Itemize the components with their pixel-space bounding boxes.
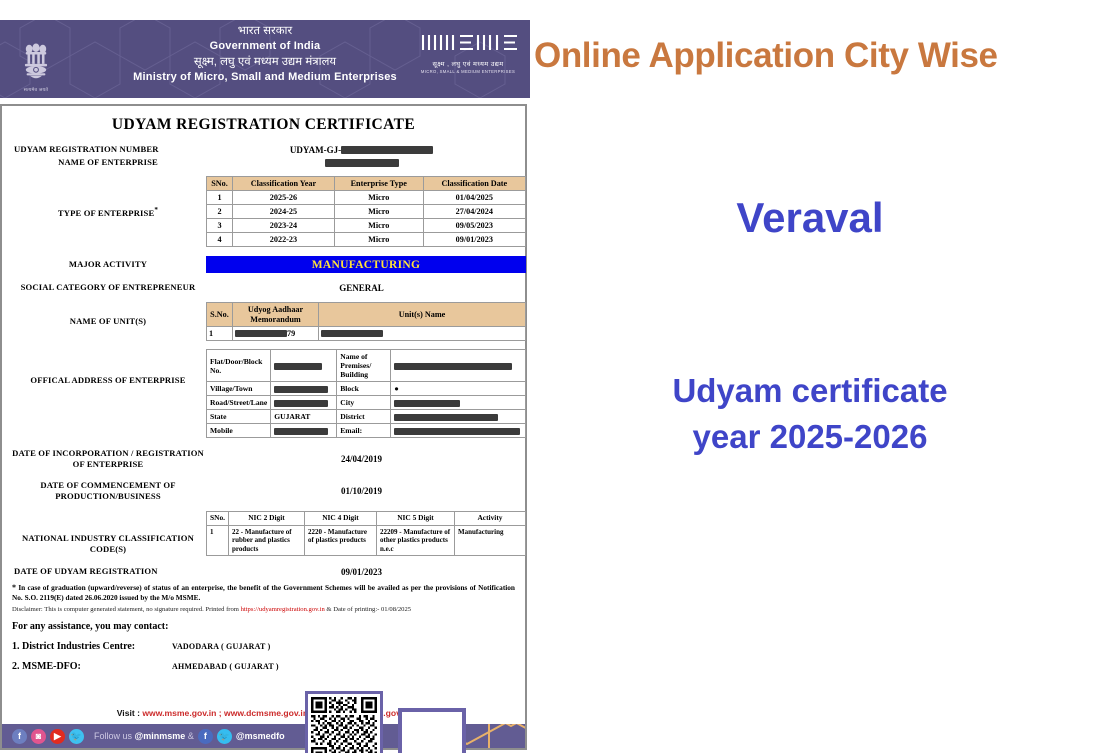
msme-logo: सूक्ष्म , लघु एवं मध्यम उद्यम MICRO, SMA… bbox=[420, 30, 516, 74]
subtitle-line-1: Udyam certificate bbox=[530, 368, 1090, 414]
cell-addr-key: Flat/Door/Block No. bbox=[207, 350, 271, 382]
table-header-row: SNo. Classification Year Enterprise Type… bbox=[207, 177, 526, 191]
table-row: Village/Town Block ● bbox=[207, 382, 526, 396]
label-name-of-enterprise: NAME OF ENTERPRISE bbox=[10, 157, 206, 168]
table-row: 2 2024-25 Micro 27/04/2024 bbox=[207, 205, 526, 219]
facebook-icon[interactable]: f bbox=[12, 729, 27, 744]
city-name: Veraval bbox=[530, 194, 1090, 242]
cell-nic-2digit: 22 - Manufacture of rubber and plastics … bbox=[229, 525, 305, 556]
cell-addr-key: Village/Town bbox=[207, 382, 271, 396]
cell-year: 2023-24 bbox=[233, 219, 335, 233]
graduation-footnote: * In case of graduation (upward/reverse)… bbox=[10, 583, 517, 603]
redacted-district bbox=[394, 414, 498, 421]
cell-addr-key: City bbox=[337, 396, 391, 410]
cell-nic-activity: Manufacturing bbox=[455, 525, 526, 556]
facebook-icon[interactable]: f bbox=[198, 729, 213, 744]
nic-table: SNo. NIC 2 Digit NIC 4 Digit NIC 5 Digit… bbox=[206, 511, 526, 556]
twitter-icon[interactable]: 🐦 bbox=[69, 729, 84, 744]
handle-minmsme[interactable]: @minmsme bbox=[135, 731, 186, 741]
th-nic-4digit: NIC 4 Digit bbox=[305, 512, 377, 526]
cell-type: Micro bbox=[334, 191, 423, 205]
cell-type: Micro bbox=[334, 233, 423, 247]
msme-logo-english-label: MICRO, SMALL & MEDIUM ENTERPRISES bbox=[420, 69, 516, 74]
youtube-icon[interactable]: ▶ bbox=[50, 729, 65, 744]
screenshot-root: सत्यमेव जयते भारत सरकार Government of In… bbox=[0, 0, 1116, 753]
cell-year: 2025-26 bbox=[233, 191, 335, 205]
label-nic-codes: NATIONAL INDUSTRY CLASSIFICATION CODE(S) bbox=[10, 511, 206, 555]
row-official-address: OFFICAL ADDRESS OF ENTERPRISE Flat/Door/… bbox=[10, 349, 517, 438]
label-social-category: SOCIAL CATEGORY OF ENTREPRENEUR bbox=[10, 282, 206, 293]
cell-addr-value bbox=[391, 410, 526, 424]
th-nic-sno: SNo. bbox=[207, 512, 229, 526]
ampersand-label: & bbox=[185, 731, 194, 741]
major-activity-banner: MANUFACTURING bbox=[206, 256, 526, 273]
label-type-of-enterprise-text: TYPE OF ENTERPRISE bbox=[58, 207, 154, 217]
emblem-motto: सत्यमेव जयते bbox=[24, 87, 49, 93]
cell-sno: 3 bbox=[207, 219, 233, 233]
row-nic-codes: NATIONAL INDUSTRY CLASSIFICATION CODE(S)… bbox=[10, 511, 517, 556]
value-date-of-udyam-registration: 09/01/2023 bbox=[206, 567, 517, 577]
cell-nic-4digit: 2220 - Manufacture of plastics products bbox=[305, 525, 377, 556]
value-date-of-commencement: 01/10/2019 bbox=[206, 486, 517, 496]
contact-value: AHMEDABAD ( GUJARAT ) bbox=[172, 662, 279, 671]
blank-placeholder-box bbox=[398, 708, 466, 753]
th-sno: SNo. bbox=[207, 177, 233, 191]
contact-msme-dfo: 2. MSME-DFO: AHMEDABAD ( GUJARAT ) bbox=[10, 661, 517, 672]
cell-addr-key: District bbox=[337, 410, 391, 424]
cell-addr-value: ● bbox=[391, 382, 526, 396]
row-name-of-enterprise: NAME OF ENTERPRISE bbox=[10, 157, 517, 168]
uam-suffix: 79 bbox=[287, 329, 295, 338]
qr-code-image bbox=[311, 697, 377, 753]
table-row: 4 2022-23 Micro 09/01/2023 bbox=[207, 233, 526, 247]
table-row: 1 22 - Manufacture of rubber and plastic… bbox=[207, 525, 526, 556]
subtitle-line-2: year 2025-2026 bbox=[530, 414, 1090, 460]
follow-label: Follow us bbox=[94, 731, 135, 741]
table-row: Road/Street/Lane City bbox=[207, 396, 526, 410]
cell-type: Micro bbox=[334, 219, 423, 233]
contact-district-industries-centre: 1. District Industries Centre: VADODARA … bbox=[10, 641, 517, 652]
units-table: S.No. Udyog Aadhaar Memorandum Unit(s) N… bbox=[206, 302, 526, 341]
table-row: Mobile Email: bbox=[207, 424, 526, 438]
cell-addr-key: Road/Street/Lane bbox=[207, 396, 271, 410]
table-row: Flat/Door/Block No. Name of Premises/ Bu… bbox=[207, 350, 526, 382]
address-table-wrap: Flat/Door/Block No. Name of Premises/ Bu… bbox=[206, 349, 526, 438]
cell-addr-value bbox=[391, 396, 526, 410]
subtitle-block: Udyam certificate year 2025-2026 bbox=[530, 368, 1090, 460]
contact-key: 2. MSME-DFO: bbox=[12, 661, 172, 672]
msme-wordmark-icon bbox=[420, 30, 520, 52]
label-date-of-commencement: DATE OF COMMENCEMENT OF PRODUCTION/BUSIN… bbox=[10, 480, 206, 502]
redacted-registration-number bbox=[341, 146, 433, 154]
cell-addr-value bbox=[271, 382, 337, 396]
cell-year: 2024-25 bbox=[233, 205, 335, 219]
certificate-title: UDYAM REGISTRATION CERTIFICATE bbox=[10, 116, 517, 134]
contact-value: VADODARA ( GUJARAT ) bbox=[172, 642, 270, 651]
redacted-premises-name bbox=[394, 363, 512, 370]
table-row: 3 2023-24 Micro 09/05/2023 bbox=[207, 219, 526, 233]
page-headline: Online Application City Wise bbox=[534, 36, 1114, 76]
contact-key: 1. District Industries Centre: bbox=[12, 641, 172, 652]
th-unit-name: Unit(s) Name bbox=[319, 303, 526, 327]
cell-unit-name bbox=[319, 327, 526, 341]
cell-addr-key: Block bbox=[337, 382, 391, 396]
label-name-of-units: NAME OF UNIT(S) bbox=[10, 316, 206, 327]
th-units-sno: S.No. bbox=[207, 303, 233, 327]
row-date-of-commencement: DATE OF COMMENCEMENT OF PRODUCTION/BUSIN… bbox=[10, 480, 517, 502]
footnote-asterisk: * bbox=[12, 583, 16, 592]
redacted-enterprise-name bbox=[325, 159, 399, 167]
disclaimer-suffix: & Date of printing:- 01/08/2025 bbox=[325, 606, 411, 613]
cell-addr-key: Email: bbox=[337, 424, 391, 438]
row-date-of-udyam-registration: DATE OF UDYAM REGISTRATION 09/01/2023 bbox=[10, 566, 517, 577]
cell-date: 27/04/2024 bbox=[423, 205, 525, 219]
row-date-of-incorporation: DATE OF INCORPORATION / REGISTRATION OF … bbox=[10, 448, 517, 470]
cell-year: 2022-23 bbox=[233, 233, 335, 247]
cell-addr-value bbox=[391, 350, 526, 382]
th-nic-activity: Activity bbox=[455, 512, 526, 526]
cell-addr-value: GUJARAT bbox=[271, 410, 337, 424]
redacted-email bbox=[394, 428, 520, 435]
assistance-heading: For any assistance, you may contact: bbox=[10, 621, 517, 632]
msme-logo-hindi-label: सूक्ष्म , लघु एवं मध्यम उद्यम bbox=[420, 59, 516, 68]
cell-units-sno: 1 bbox=[207, 327, 233, 341]
follow-us-text: Follow us @minmsme & bbox=[94, 731, 194, 741]
major-activity-wrap: MANUFACTURING bbox=[206, 256, 526, 273]
enterprise-type-table-wrap: SNo. Classification Year Enterprise Type… bbox=[206, 176, 526, 247]
registration-number-prefix: UDYAM-GJ- bbox=[290, 145, 341, 155]
value-social-category: GENERAL bbox=[206, 283, 517, 293]
units-table-wrap: S.No. Udyog Aadhaar Memorandum Unit(s) N… bbox=[206, 302, 526, 341]
footnote-text: In case of graduation (upward/reverse) o… bbox=[12, 583, 515, 602]
cell-addr-value bbox=[271, 424, 337, 438]
redacted-flat-no bbox=[274, 363, 322, 370]
cell-type: Micro bbox=[334, 205, 423, 219]
label-date-of-incorporation: DATE OF INCORPORATION / REGISTRATION OF … bbox=[10, 448, 206, 470]
cell-sno: 2 bbox=[207, 205, 233, 219]
th-classification-year: Classification Year bbox=[233, 177, 335, 191]
row-registration-number: UDYAM REGISTRATION NUMBER UDYAM-GJ- bbox=[10, 144, 517, 155]
table-row: 1 79 bbox=[207, 327, 526, 341]
redacted-city bbox=[394, 400, 460, 407]
label-registration-number: UDYAM REGISTRATION NUMBER bbox=[10, 144, 206, 155]
udyam-certificate-panel: सत्यमेव जयते भारत सरकार Government of In… bbox=[0, 20, 530, 753]
label-type-of-enterprise: TYPE OF ENTERPRISE* bbox=[10, 205, 206, 219]
udyam-registration-link[interactable]: https://udyamregistration.gov.in bbox=[241, 606, 325, 613]
th-enterprise-type: Enterprise Type bbox=[334, 177, 423, 191]
instagram-icon[interactable]: ◙ bbox=[31, 729, 46, 744]
row-major-activity: MAJOR ACTIVITY MANUFACTURING bbox=[10, 256, 517, 273]
cell-date: 09/05/2023 bbox=[423, 219, 525, 233]
twitter-icon[interactable]: 🐦 bbox=[217, 729, 232, 744]
disclaimer-prefix: Disclaimer: This is computer generated s… bbox=[12, 606, 241, 613]
government-header: सत्यमेव जयते भारत सरकार Government of In… bbox=[0, 20, 530, 98]
right-text-panel: Online Application City Wise Veraval Udy… bbox=[530, 0, 1116, 753]
cell-addr-value bbox=[271, 396, 337, 410]
cell-addr-value bbox=[271, 350, 337, 382]
row-social-category: SOCIAL CATEGORY OF ENTREPRENEUR GENERAL bbox=[10, 282, 517, 293]
label-date-of-udyam-registration: DATE OF UDYAM REGISTRATION bbox=[10, 566, 206, 577]
certificate-body: UDYAM REGISTRATION CERTIFICATE UDYAM REG… bbox=[0, 104, 527, 750]
label-official-address: OFFICAL ADDRESS OF ENTERPRISE bbox=[10, 349, 206, 386]
th-classification-date: Classification Date bbox=[423, 177, 525, 191]
disclaimer-line: Disclaimer: This is computer generated s… bbox=[10, 605, 517, 614]
address-table: Flat/Door/Block No. Name of Premises/ Bu… bbox=[206, 349, 526, 438]
value-registration-number: UDYAM-GJ- bbox=[206, 145, 517, 155]
cell-sno: 1 bbox=[207, 191, 233, 205]
label-major-activity: MAJOR ACTIVITY bbox=[10, 259, 206, 270]
redacted-mobile bbox=[274, 428, 328, 435]
cell-nic-sno: 1 bbox=[207, 525, 229, 556]
cell-addr-key: Mobile bbox=[207, 424, 271, 438]
th-uam: Udyog Aadhaar Memorandum bbox=[233, 303, 319, 327]
redacted-village bbox=[274, 386, 328, 393]
table-row: State GUJARAT District bbox=[207, 410, 526, 424]
th-nic-2digit: NIC 2 Digit bbox=[229, 512, 305, 526]
table-header-row: SNo. NIC 2 Digit NIC 4 Digit NIC 5 Digit… bbox=[207, 512, 526, 526]
cell-uam: 79 bbox=[233, 327, 319, 341]
table-header-row: S.No. Udyog Aadhaar Memorandum Unit(s) N… bbox=[207, 303, 526, 327]
row-type-of-enterprise: TYPE OF ENTERPRISE* SNo. Classification … bbox=[10, 176, 517, 247]
cell-date: 01/04/2025 bbox=[423, 191, 525, 205]
redacted-road bbox=[274, 400, 328, 407]
cell-addr-key: State bbox=[207, 410, 271, 424]
cell-sno: 4 bbox=[207, 233, 233, 247]
cell-date: 09/01/2023 bbox=[423, 233, 525, 247]
th-nic-5digit: NIC 5 Digit bbox=[377, 512, 455, 526]
row-name-of-units: NAME OF UNIT(S) S.No. Udyog Aadhaar Memo… bbox=[10, 302, 517, 341]
redacted-unit-name bbox=[321, 330, 383, 337]
visit-lead-label: Visit : bbox=[117, 708, 143, 718]
table-row: 1 2025-26 Micro 01/04/2025 bbox=[207, 191, 526, 205]
cell-addr-key: Name of Premises/ Building bbox=[337, 350, 391, 382]
enterprise-type-table: SNo. Classification Year Enterprise Type… bbox=[206, 176, 526, 247]
cell-addr-value bbox=[391, 424, 526, 438]
redacted-uam bbox=[235, 330, 287, 337]
qr-code[interactable] bbox=[305, 691, 383, 753]
value-name-of-enterprise bbox=[206, 158, 517, 168]
cell-nic-5digit: 22209 - Manufacture of other plastics pr… bbox=[377, 525, 455, 556]
nic-table-wrap: SNo. NIC 2 Digit NIC 4 Digit NIC 5 Digit… bbox=[206, 511, 526, 556]
handle-msmedfo[interactable]: @msmedfo bbox=[236, 731, 285, 741]
value-date-of-incorporation: 24/04/2019 bbox=[206, 454, 517, 464]
